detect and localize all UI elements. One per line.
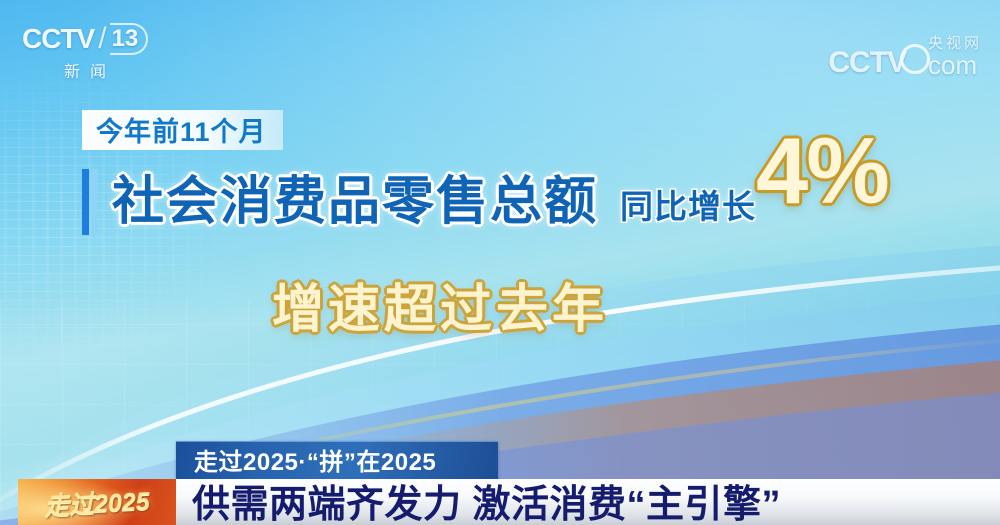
kicker-bar: 走过2025·“拼”在2025 [176,441,498,479]
statistic-value: 4% [756,124,888,218]
program-badge: 走过2025 [18,479,176,525]
channel-number: 13 [110,23,149,55]
broadcast-screen: CCTV / 13 新闻 CCTV 央视网 com 今年前11个月 社会消费品零… [0,0,1000,525]
cctv-com-watermark: CCTV 央视网 com [828,20,982,78]
cctv-wordmark: CCTV [22,25,94,53]
tagline-text: 增速超过去年 [272,284,608,336]
logo-slash-icon: / [98,22,106,56]
statistic-label: 社会消费品零售总额 [112,176,598,228]
program-badge-label: 走过2025 [43,481,150,522]
globe-icon [900,44,930,74]
period-tag: 今年前11个月 [82,110,283,150]
cctv13-channel-logo: CCTV / 13 新闻 [22,22,150,80]
channel-name-label: 新闻 [22,58,150,82]
headline-bar: 供需两端齐发力 激活消费“主引擎” [176,479,1000,525]
cctv-watermark-wordmark: CCTV [828,48,906,78]
watermark-com-label: com [928,52,977,78]
accent-bar-icon [82,169,98,235]
statistic-qualifier: 同比增长 [620,190,756,223]
statistic-line: 社会消费品零售总额 同比增长 [82,163,756,241]
